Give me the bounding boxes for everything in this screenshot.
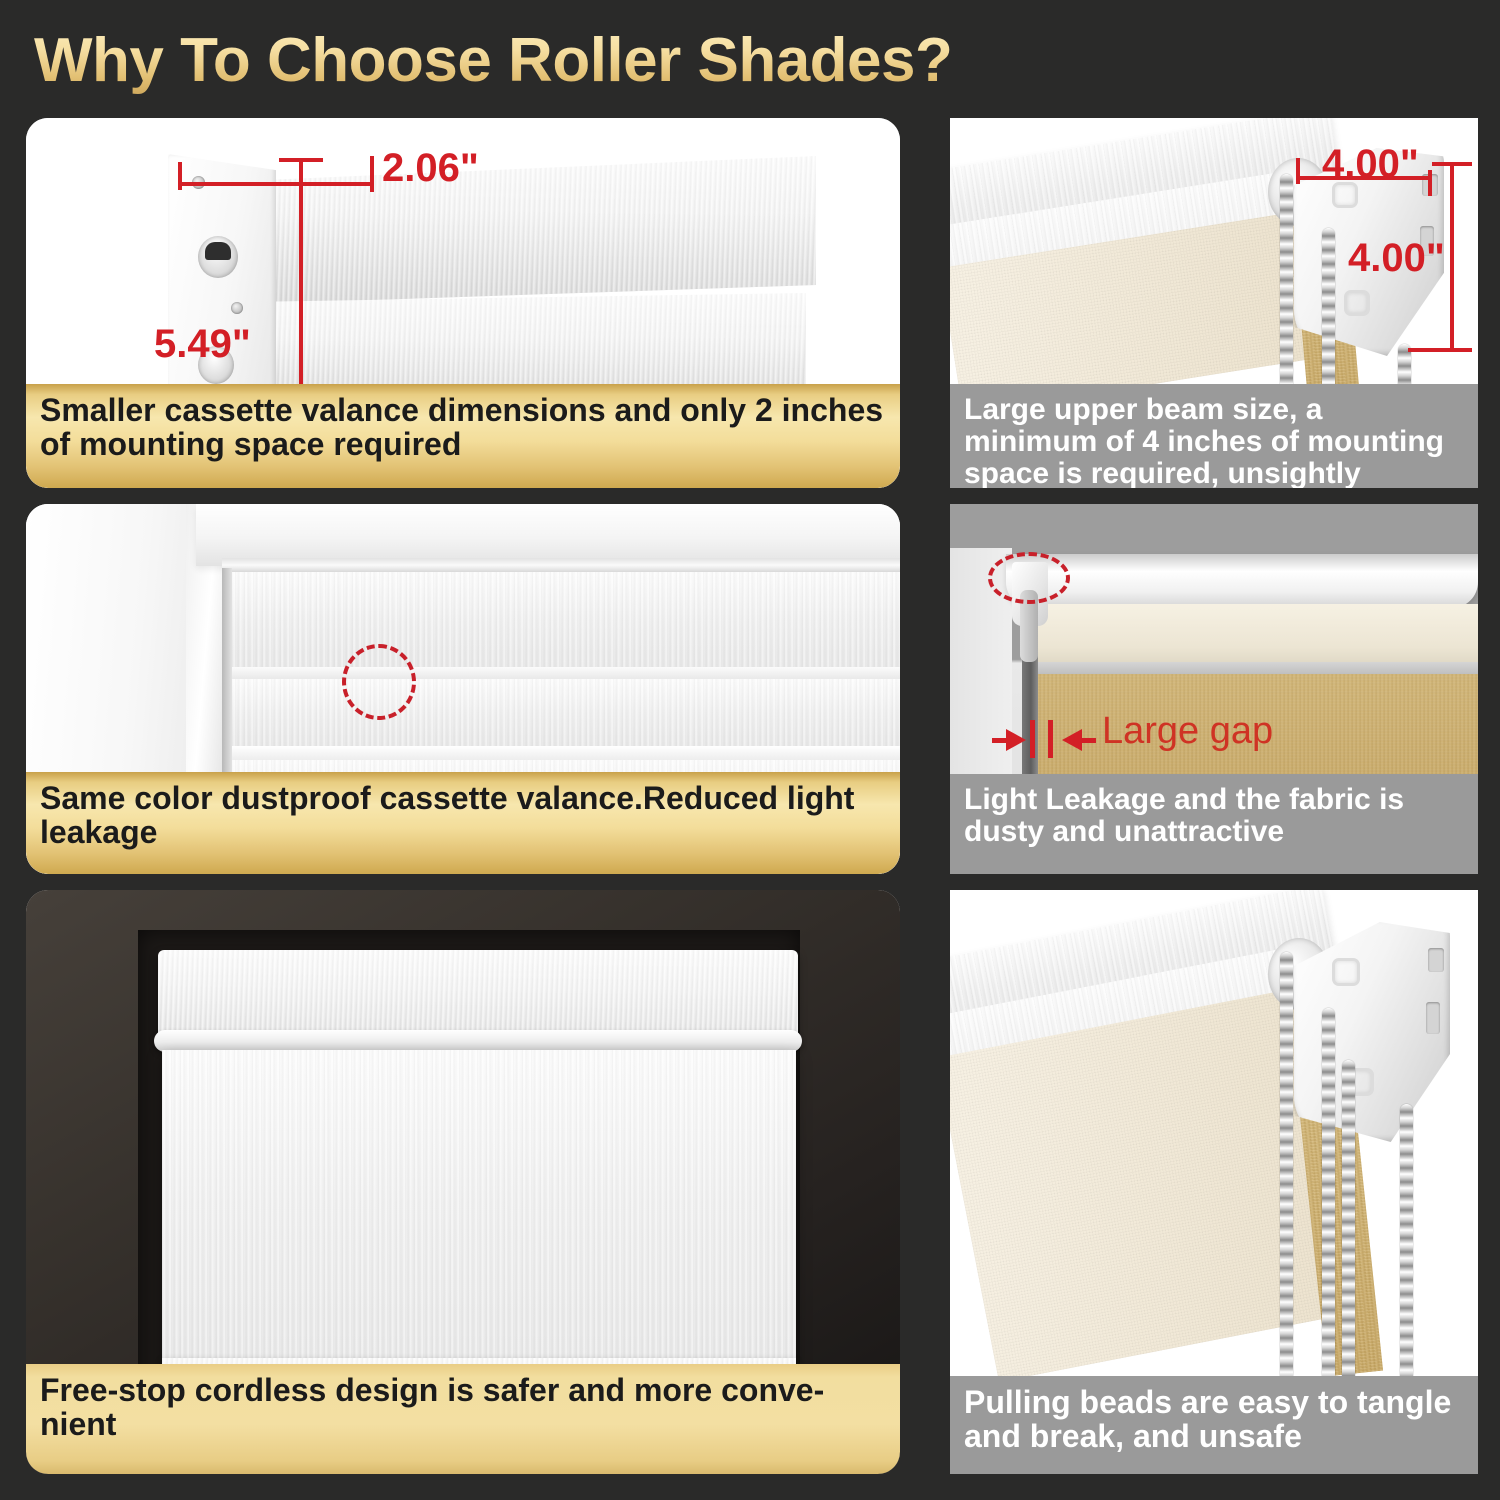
bead-chain-middle-a [1322,1008,1335,1390]
width-dim-tick-left [178,162,182,190]
highlight-ellipse [342,644,416,720]
highlight-ellipse [988,552,1070,604]
panel-cordless-design: Free-stop cordless design is safer and m… [26,890,900,1474]
beam-height-tick-top [1432,162,1472,166]
gap-marker-bar-1 [1030,720,1035,758]
beam-shadow-line [1036,662,1478,674]
infographic-page: Why To Choose Roller Shades? 2.06" [0,0,1500,1500]
panel-dustproof-valance: smaller gap Same color dustproof cassett… [26,504,900,874]
panel-6-caption: Pulling beads are easy to tangle and bre… [950,1376,1478,1474]
panel-pulling-beads: Pulling beads are easy to tangle and bre… [950,890,1478,1474]
gap-arrow-right [1062,729,1082,751]
large-gap-label: Large gap [1102,710,1273,753]
height-dim-label: 5.49" [154,322,251,367]
bracket-slot-mid [1426,1002,1440,1034]
width-dim-tick-right [370,156,374,192]
valance-clip-slot [205,242,231,260]
gap-marker-bar-2 [1048,720,1053,758]
wall-upper [950,504,1478,548]
beam-width-label: 4.00" [1322,142,1419,187]
valance-screw-mid [231,302,243,314]
gap-arrow-left-stem [992,738,1012,743]
height-dim-tick-top [279,158,323,162]
bracket-emblem-bottom [1344,290,1370,316]
page-title: Why To Choose Roller Shades? [34,22,1134,100]
beam-height-tick-bottom [1408,348,1472,352]
valance-lip [154,1030,802,1052]
beam-width-tick-left [1296,158,1300,184]
bead-chain-left [1280,174,1293,414]
width-dim-line [178,182,374,186]
cream-beam [1036,604,1478,666]
panel-3-caption: Same color dustproof cassette valance.Re… [26,772,900,874]
width-dim-label: 2.06" [382,146,479,191]
panel-4-caption: Light Leakage and the fabric is dusty an… [950,774,1478,874]
bracket-slot-top [1428,948,1444,972]
panel-large-upper-beam: 4.00" 4.00" Large upper beam size, a min… [950,118,1478,488]
panel-light-leakage: Large gap Light Leakage and the fabric i… [950,504,1478,874]
shade-fabric-seam-2 [226,746,900,760]
beam-height-dim-line [1450,162,1454,352]
head-rail [1006,554,1478,608]
shade-fabric-band-1 [226,572,900,670]
panel-smaller-cassette: 2.06" 5.49" Smaller cassette valance dim… [26,118,900,488]
cassette-valance-head [158,950,798,1038]
panel-2-caption: Large upper beam size, a minimum of 4 in… [950,384,1478,488]
shade-fabric-main [162,1050,796,1370]
bead-chain-right [1400,1104,1413,1390]
panel-1-caption: Smaller cassette valance dimensions and … [26,384,900,488]
beam-width-tick-right [1428,170,1432,196]
bead-chain-left [1280,952,1293,1390]
panel-5-caption: Free-stop cordless design is safer and m… [26,1364,900,1474]
beam-height-label: 4.00" [1348,236,1445,281]
gap-arrow-right-stem [1080,738,1096,743]
shade-fabric-band-2 [226,679,900,749]
window-head-trim [196,504,900,566]
bead-chain-middle-b [1342,1060,1355,1390]
bracket-emblem-top [1332,958,1360,986]
shade-fabric-seam-1 [226,667,900,679]
